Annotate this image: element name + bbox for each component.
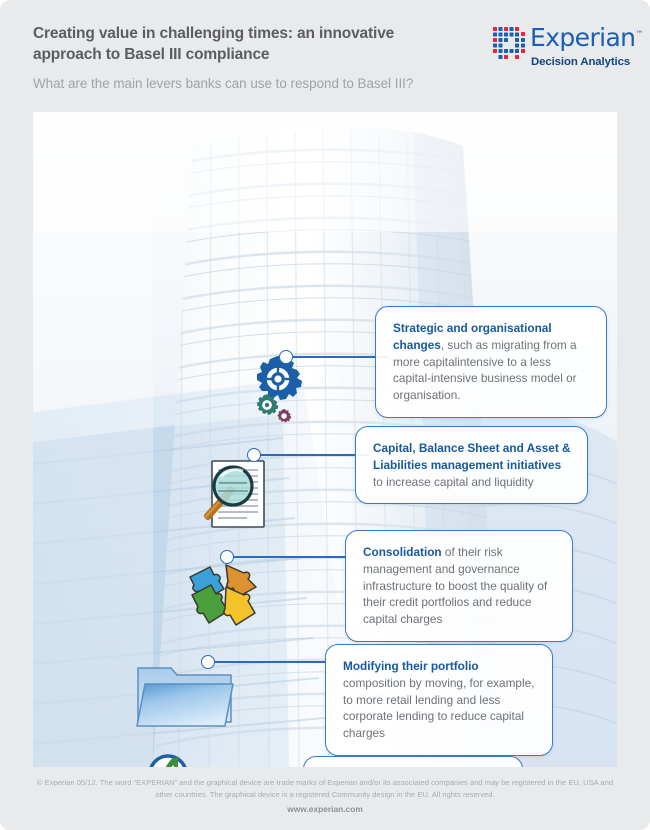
callout-strategic-organisational-changes[interactable]: Strategic and organisational changes, su… [375, 306, 607, 418]
trademark-icon: ™ [635, 30, 642, 39]
connector-line [286, 356, 389, 358]
connector-line [227, 556, 345, 558]
connector-dot [247, 448, 261, 462]
copyright-text: © Experian 05/12. The word “EXPERIAN” an… [0, 777, 650, 801]
callout-consolidation[interactable]: Consolidation of their risk management a… [345, 530, 573, 642]
bar-chart-arrow-icon [108, 750, 218, 767]
callout-modifying-portfolio[interactable]: Modifying their portfolio composition by… [325, 644, 553, 756]
page-title: Creating value in challenging times: an … [33, 24, 453, 66]
connector-line [254, 454, 369, 456]
callout-heading: Consolidation [363, 545, 442, 559]
page-subtitle: What are the main levers banks can use t… [33, 76, 503, 92]
document-magnifier-icon-wrapper [183, 355, 278, 435]
callout-heading: Modifying their portfolio [343, 659, 479, 673]
website-url[interactable]: www.experian.com [0, 804, 650, 814]
infographic-page: Creating value in challenging times: an … [0, 0, 650, 830]
connector-dot [201, 655, 215, 669]
footer: © Experian 05/12. The word “EXPERIAN” an… [0, 767, 650, 830]
experian-wordmark: Experian™ [530, 25, 643, 50]
connector-dot [279, 350, 293, 364]
experian-logo: Experian™ Decision Analytics [492, 24, 632, 76]
callout-capital-balance-sheet[interactable]: Capital, Balance Sheet and Asset & Liabi… [355, 426, 588, 504]
connector-consolidation [220, 550, 345, 564]
callout-optimising-credit-strategies[interactable]: Optimising credit strategies to maximise… [303, 756, 523, 767]
experian-tagline: Decision Analytics [531, 57, 630, 68]
connector-strategic-organisational-changes [279, 350, 389, 364]
folder-icon [133, 660, 239, 732]
callout-heading: Capital, Balance Sheet and Asset & Liabi… [373, 441, 571, 472]
connector-dot [220, 550, 234, 564]
experian-dot-matrix-icon [492, 26, 526, 60]
connector-capital-balance-sheet [247, 448, 369, 462]
infographic-panel: Strategic and organisational changes, su… [33, 112, 617, 767]
header: Creating value in challenging times: an … [0, 0, 650, 112]
connector-line [208, 661, 326, 663]
callout-body: composition by moving, for example, to m… [343, 676, 534, 740]
connector-modifying-portfolio [201, 655, 326, 669]
puzzle-pieces-icon [178, 555, 268, 640]
callout-body: to increase capital and liquidity [373, 475, 534, 489]
document-magnifier-icon [185, 457, 285, 532]
